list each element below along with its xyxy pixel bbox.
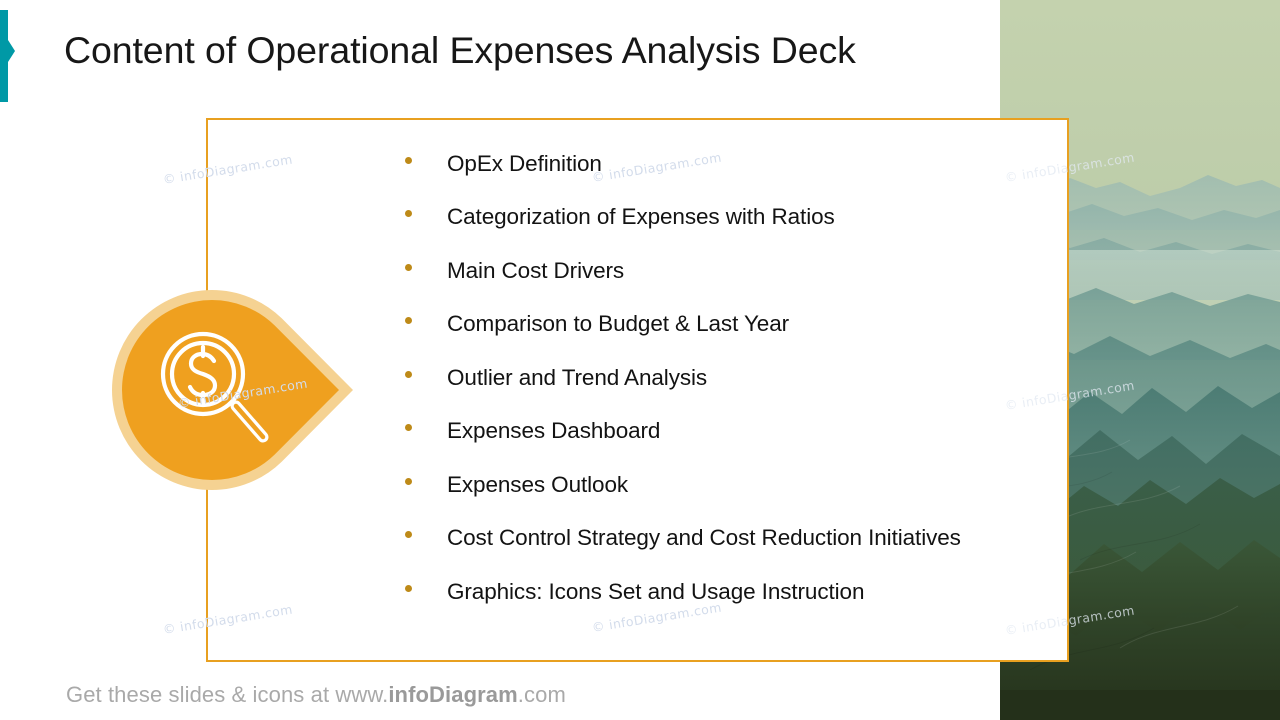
list-item-label: Expenses Dashboard xyxy=(447,415,1025,447)
bullet-dot-icon xyxy=(405,255,447,271)
list-item-label: Categorization of Expenses with Ratios xyxy=(447,201,1025,233)
list-item[interactable]: Outlier and Trend Analysis xyxy=(405,362,1025,394)
list-item-label: Cost Control Strategy and Cost Reduction… xyxy=(447,522,1025,554)
bullet-dot-icon xyxy=(405,201,447,217)
magnifier-dollar-icon xyxy=(108,286,356,494)
list-item-label: Main Cost Drivers xyxy=(447,255,1025,287)
bullet-dot-icon xyxy=(405,576,447,592)
bullet-dot-icon xyxy=(405,415,447,431)
list-item[interactable]: Categorization of Expenses with Ratios xyxy=(405,201,1025,233)
list-item-label: Comparison to Budget & Last Year xyxy=(447,308,1025,340)
bullet-dot-icon xyxy=(405,308,447,324)
footer-prefix: Get these slides & icons at www. xyxy=(66,682,388,707)
list-item[interactable]: Expenses Dashboard xyxy=(405,415,1025,447)
list-item[interactable]: Cost Control Strategy and Cost Reduction… xyxy=(405,522,1025,554)
list-item[interactable]: Graphics: Icons Set and Usage Instructio… xyxy=(405,576,1025,608)
bullet-dot-icon xyxy=(405,522,447,538)
list-item[interactable]: Comparison to Budget & Last Year xyxy=(405,308,1025,340)
teal-chevron-bar-icon xyxy=(0,10,22,102)
slide-canvas: Content of Operational Expenses Analysis… xyxy=(0,0,1280,720)
list-item[interactable]: OpEx Definition xyxy=(405,148,1025,180)
footer-brand: infoDiagram xyxy=(388,682,517,707)
bullet-dot-icon xyxy=(405,148,447,164)
list-item-label: Expenses Outlook xyxy=(447,469,1025,501)
page-title: Content of Operational Expenses Analysis… xyxy=(64,26,984,74)
footer-suffix: .com xyxy=(518,682,566,707)
list-item-label: Outlier and Trend Analysis xyxy=(447,362,1025,394)
list-item-label: OpEx Definition xyxy=(447,148,1025,180)
agenda-bullet-list: OpEx Definition Categorization of Expens… xyxy=(405,148,1025,629)
bullet-dot-icon xyxy=(405,362,447,378)
list-item-label: Graphics: Icons Set and Usage Instructio… xyxy=(447,576,1025,608)
list-item[interactable]: Expenses Outlook xyxy=(405,469,1025,501)
bullet-dot-icon xyxy=(405,469,447,485)
list-item[interactable]: Main Cost Drivers xyxy=(405,255,1025,287)
footer-credit: Get these slides & icons at www.infoDiag… xyxy=(66,682,566,708)
